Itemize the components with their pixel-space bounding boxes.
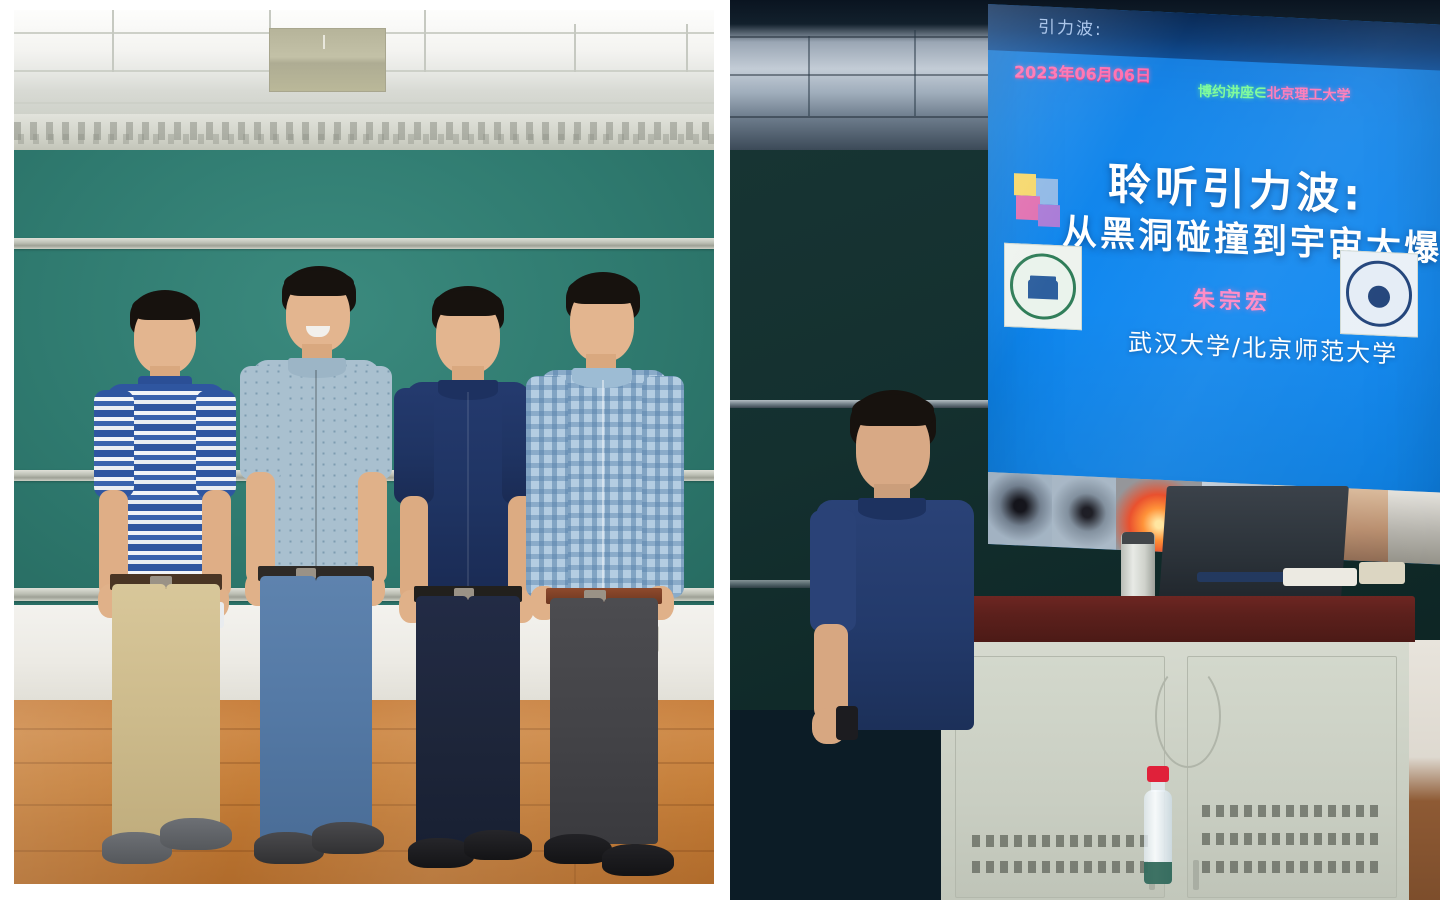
left-leg — [112, 584, 166, 842]
speaker-left-arm — [810, 510, 856, 632]
group-photo-classroom — [14, 10, 714, 884]
right-shoe — [312, 822, 384, 854]
person-striped-polo — [84, 284, 244, 884]
person-checked-shirt — [522, 262, 688, 884]
bottle-label — [1144, 862, 1172, 884]
left-arm-sleeve — [526, 376, 568, 598]
left-leg — [416, 596, 468, 848]
right-arm-sleeve — [642, 376, 684, 598]
right-leg — [604, 598, 658, 844]
person-patterned-shirt — [232, 266, 400, 884]
projection-screen: 引力波: 2023年06月06日 博约讲座∈北京理工大学 聆听引力波: 从黑洞碰… — [988, 4, 1440, 565]
desk-small-box — [1359, 562, 1405, 584]
left-arm-sleeve — [94, 390, 134, 498]
collage-stage: 引力波: 2023年06月06日 博约讲座∈北京理工大学 聆听引力波: 从黑洞碰… — [0, 0, 1440, 900]
left-leg — [550, 598, 604, 844]
right-arm-sleeve — [196, 390, 236, 498]
hair-fringe — [568, 276, 638, 304]
bottle-cap — [1147, 766, 1169, 782]
water-bottle — [1143, 766, 1173, 884]
screen-glare — [988, 4, 1440, 565]
shirt-collar — [288, 358, 346, 378]
right-shoe — [602, 844, 674, 876]
right-shoe — [160, 818, 232, 850]
lectern-top-trim — [935, 596, 1415, 642]
left-arm-sleeve — [240, 366, 282, 480]
hair-fringe — [132, 294, 198, 320]
speaker-presenter — [810, 390, 990, 900]
presenter-remote — [836, 706, 858, 740]
speaker-polo-collar — [858, 498, 926, 520]
thermos-flask — [1121, 532, 1155, 600]
cabinet-handle-right[interactable] — [1193, 860, 1199, 890]
right-leg — [166, 584, 220, 842]
right-leg — [468, 596, 520, 848]
ceiling-vent-panel — [269, 28, 386, 92]
right-leg — [316, 576, 372, 842]
lectern-cabinet — [941, 642, 1409, 900]
hair-fringe — [434, 290, 502, 316]
classroom-ceiling — [14, 10, 714, 114]
shirt-placket — [602, 380, 604, 590]
cabinet-cable-loop — [1155, 664, 1221, 768]
lecture-photo-auditorium: 引力波: 2023年06月06日 博约讲座∈北京理工大学 聆听引力波: 从黑洞碰… — [730, 0, 1440, 900]
desk-papers — [1283, 568, 1357, 586]
left-leg — [260, 576, 316, 842]
lectern — [935, 596, 1415, 900]
shirt-placket — [467, 392, 469, 588]
hair-fringe — [284, 270, 354, 296]
cabinet-door-right[interactable] — [1187, 656, 1397, 898]
desk-cable — [1197, 572, 1287, 582]
left-arm-sleeve — [394, 388, 434, 504]
ceiling-soffit — [14, 114, 714, 150]
shirt-placket — [315, 370, 317, 566]
speaker-hair-fringe — [852, 394, 934, 426]
